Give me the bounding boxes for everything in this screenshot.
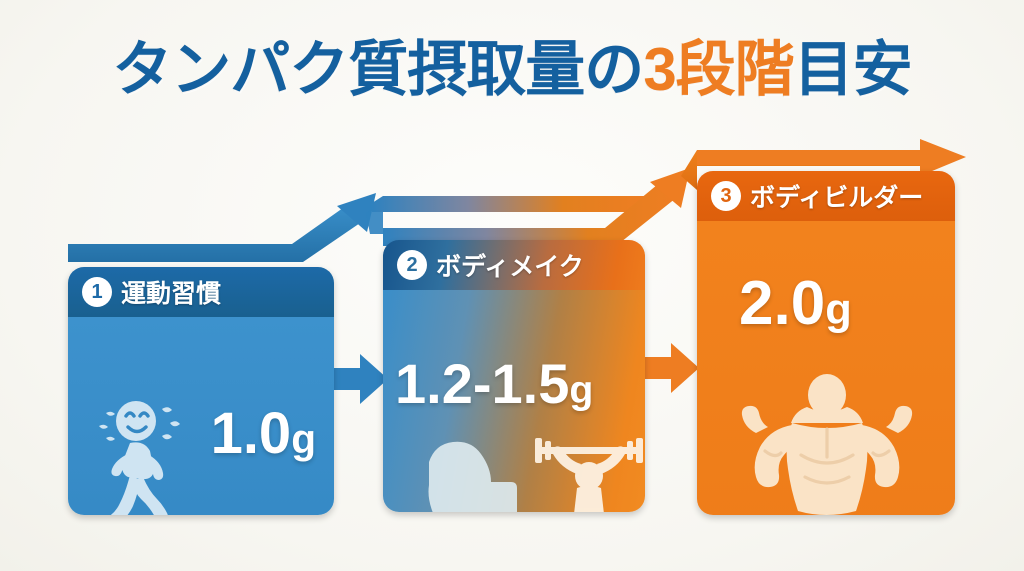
level-card-3-value-number: 2.0 [739, 269, 825, 338]
level-card-2-label: ボディメイク [436, 247, 584, 283]
infographic-canvas: タンパク質摂取量の3段階目安 [0, 0, 1024, 571]
level-card-3-value: 2.0g [739, 273, 852, 335]
level-card-2-header: 2 ボディメイク [383, 240, 645, 290]
level-card-1-body: 1.0g [68, 317, 334, 515]
arrow-level2-to-level3 [641, 337, 701, 399]
level-number-badge-1: 1 [82, 277, 112, 307]
level-card-1-header: 1 運動習慣 [68, 267, 334, 317]
level-card-2-value-number: 1.2-1.5 [395, 352, 569, 415]
level-card-3[interactable]: 3 ボディビルダー 2.0g [697, 171, 955, 515]
stair-ledge-2 [372, 196, 645, 212]
level-card-3-value-unit: g [825, 286, 852, 334]
level-card-1-label: 運動習慣 [121, 274, 221, 310]
bodybuilder-icon [731, 373, 923, 515]
level-card-1[interactable]: 1 運動習慣 [68, 267, 334, 515]
level-card-3-body: 2.0g [697, 221, 955, 515]
level-card-1-value-unit: g [291, 416, 316, 462]
level-card-2-value: 1.2-1.5g [395, 356, 593, 412]
weightlifter-icon [533, 430, 645, 512]
level-card-2-value-unit: g [569, 369, 593, 412]
level-number-badge-2: 2 [397, 250, 427, 280]
flexed-bicep-icon [411, 438, 529, 512]
level-card-3-header: 3 ボディビルダー [697, 171, 955, 221]
stair-segment-1 [68, 193, 383, 262]
level-card-1-value: 1.0g [211, 405, 316, 463]
level-card-3-label: ボディビルダー [750, 178, 923, 214]
arrow-level1-to-level2 [330, 348, 390, 410]
level-card-2[interactable]: 2 ボディメイク 1.2-1.5g [383, 240, 645, 512]
running-person-icon [86, 395, 198, 515]
level-card-1-value-number: 1.0 [211, 401, 292, 466]
level-number-badge-3: 3 [711, 181, 741, 211]
level-card-2-body: 1.2-1.5g [383, 290, 645, 512]
